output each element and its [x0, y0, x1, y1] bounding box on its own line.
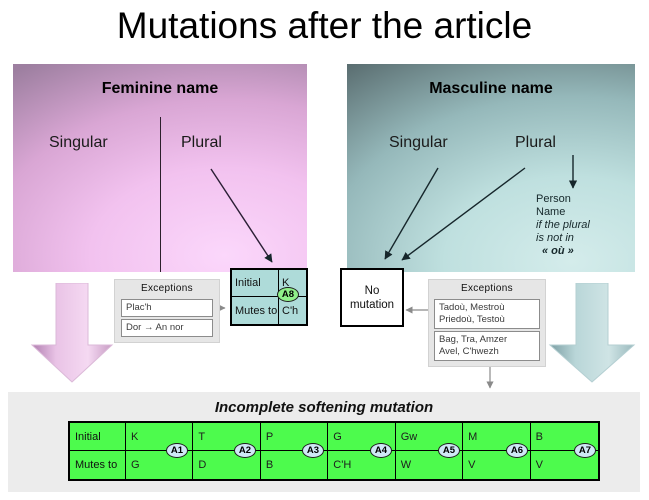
- person-note-line3: if the plural: [536, 219, 626, 232]
- masculine-plural-label: Plural: [515, 134, 556, 152]
- badge-a2[interactable]: A2: [234, 443, 256, 458]
- exception-item[interactable]: Tadoù, Mestroù Priedoù, Testoù: [434, 299, 540, 329]
- badge-a7[interactable]: A7: [574, 443, 596, 458]
- exceptions-right-title: Exceptions: [429, 280, 545, 297]
- feminine-block-arrow: [30, 283, 114, 383]
- badge-a6[interactable]: A6: [506, 443, 528, 458]
- feminine-singular-label: Singular: [49, 134, 108, 152]
- exceptions-left-title: Exceptions: [115, 280, 219, 297]
- no-mutation-box: No mutation: [340, 268, 404, 327]
- slide-canvas: Mutations after the article Feminine nam…: [0, 0, 649, 500]
- exception-item[interactable]: Bag, Tra, Amzer Avel, C'hwezh: [434, 331, 540, 361]
- feminine-plural-label: Plural: [181, 134, 222, 152]
- badge-a4[interactable]: A4: [370, 443, 392, 458]
- masculine-name-panel: Masculine name Singular Plural Person Na…: [347, 64, 635, 272]
- exception-item[interactable]: Plac'h: [121, 299, 213, 317]
- center-row-label-initial: Initial: [232, 270, 279, 297]
- no-mutation-line2: mutation: [350, 298, 394, 312]
- incomplete-softening-panel: Incomplete softening mutation InitialKTP…: [8, 392, 640, 492]
- feminine-column-divider: [160, 117, 161, 272]
- badge-a1[interactable]: A1: [166, 443, 188, 458]
- exceptions-right-panel: Exceptions Tadoù, Mestroù Priedoù, Testo…: [428, 279, 546, 367]
- feminine-name-panel: Feminine name Singular Plural: [13, 64, 307, 272]
- person-note-line2: Name: [536, 206, 626, 219]
- feminine-panel-title: Feminine name: [13, 80, 307, 98]
- masculine-block-arrow: [548, 283, 636, 383]
- exceptions-left-panel: Exceptions Plac'h Dor → An nor: [114, 279, 220, 343]
- bottom-panel-title: Incomplete softening mutation: [8, 399, 640, 416]
- badge-a5[interactable]: A5: [438, 443, 460, 458]
- exception-item[interactable]: Dor → An nor: [121, 319, 213, 337]
- center-row-label-mutes-to: Mutes to: [232, 297, 279, 324]
- person-note-line1: Person: [536, 193, 626, 206]
- badge-a3[interactable]: A3: [302, 443, 324, 458]
- no-mutation-line1: No: [350, 284, 394, 298]
- person-name-note: Person Name if the plural is not in « où…: [536, 193, 626, 258]
- person-note-line5: « où »: [536, 245, 574, 258]
- badge-a8[interactable]: A8: [277, 287, 299, 302]
- page-title: Mutations after the article: [0, 2, 649, 50]
- softening-badge-row: A1A2A3A4A5A6A7: [68, 443, 600, 459]
- person-note-line4: is not in: [536, 232, 626, 245]
- masculine-panel-title: Masculine name: [347, 80, 635, 98]
- masculine-singular-label: Singular: [389, 134, 448, 152]
